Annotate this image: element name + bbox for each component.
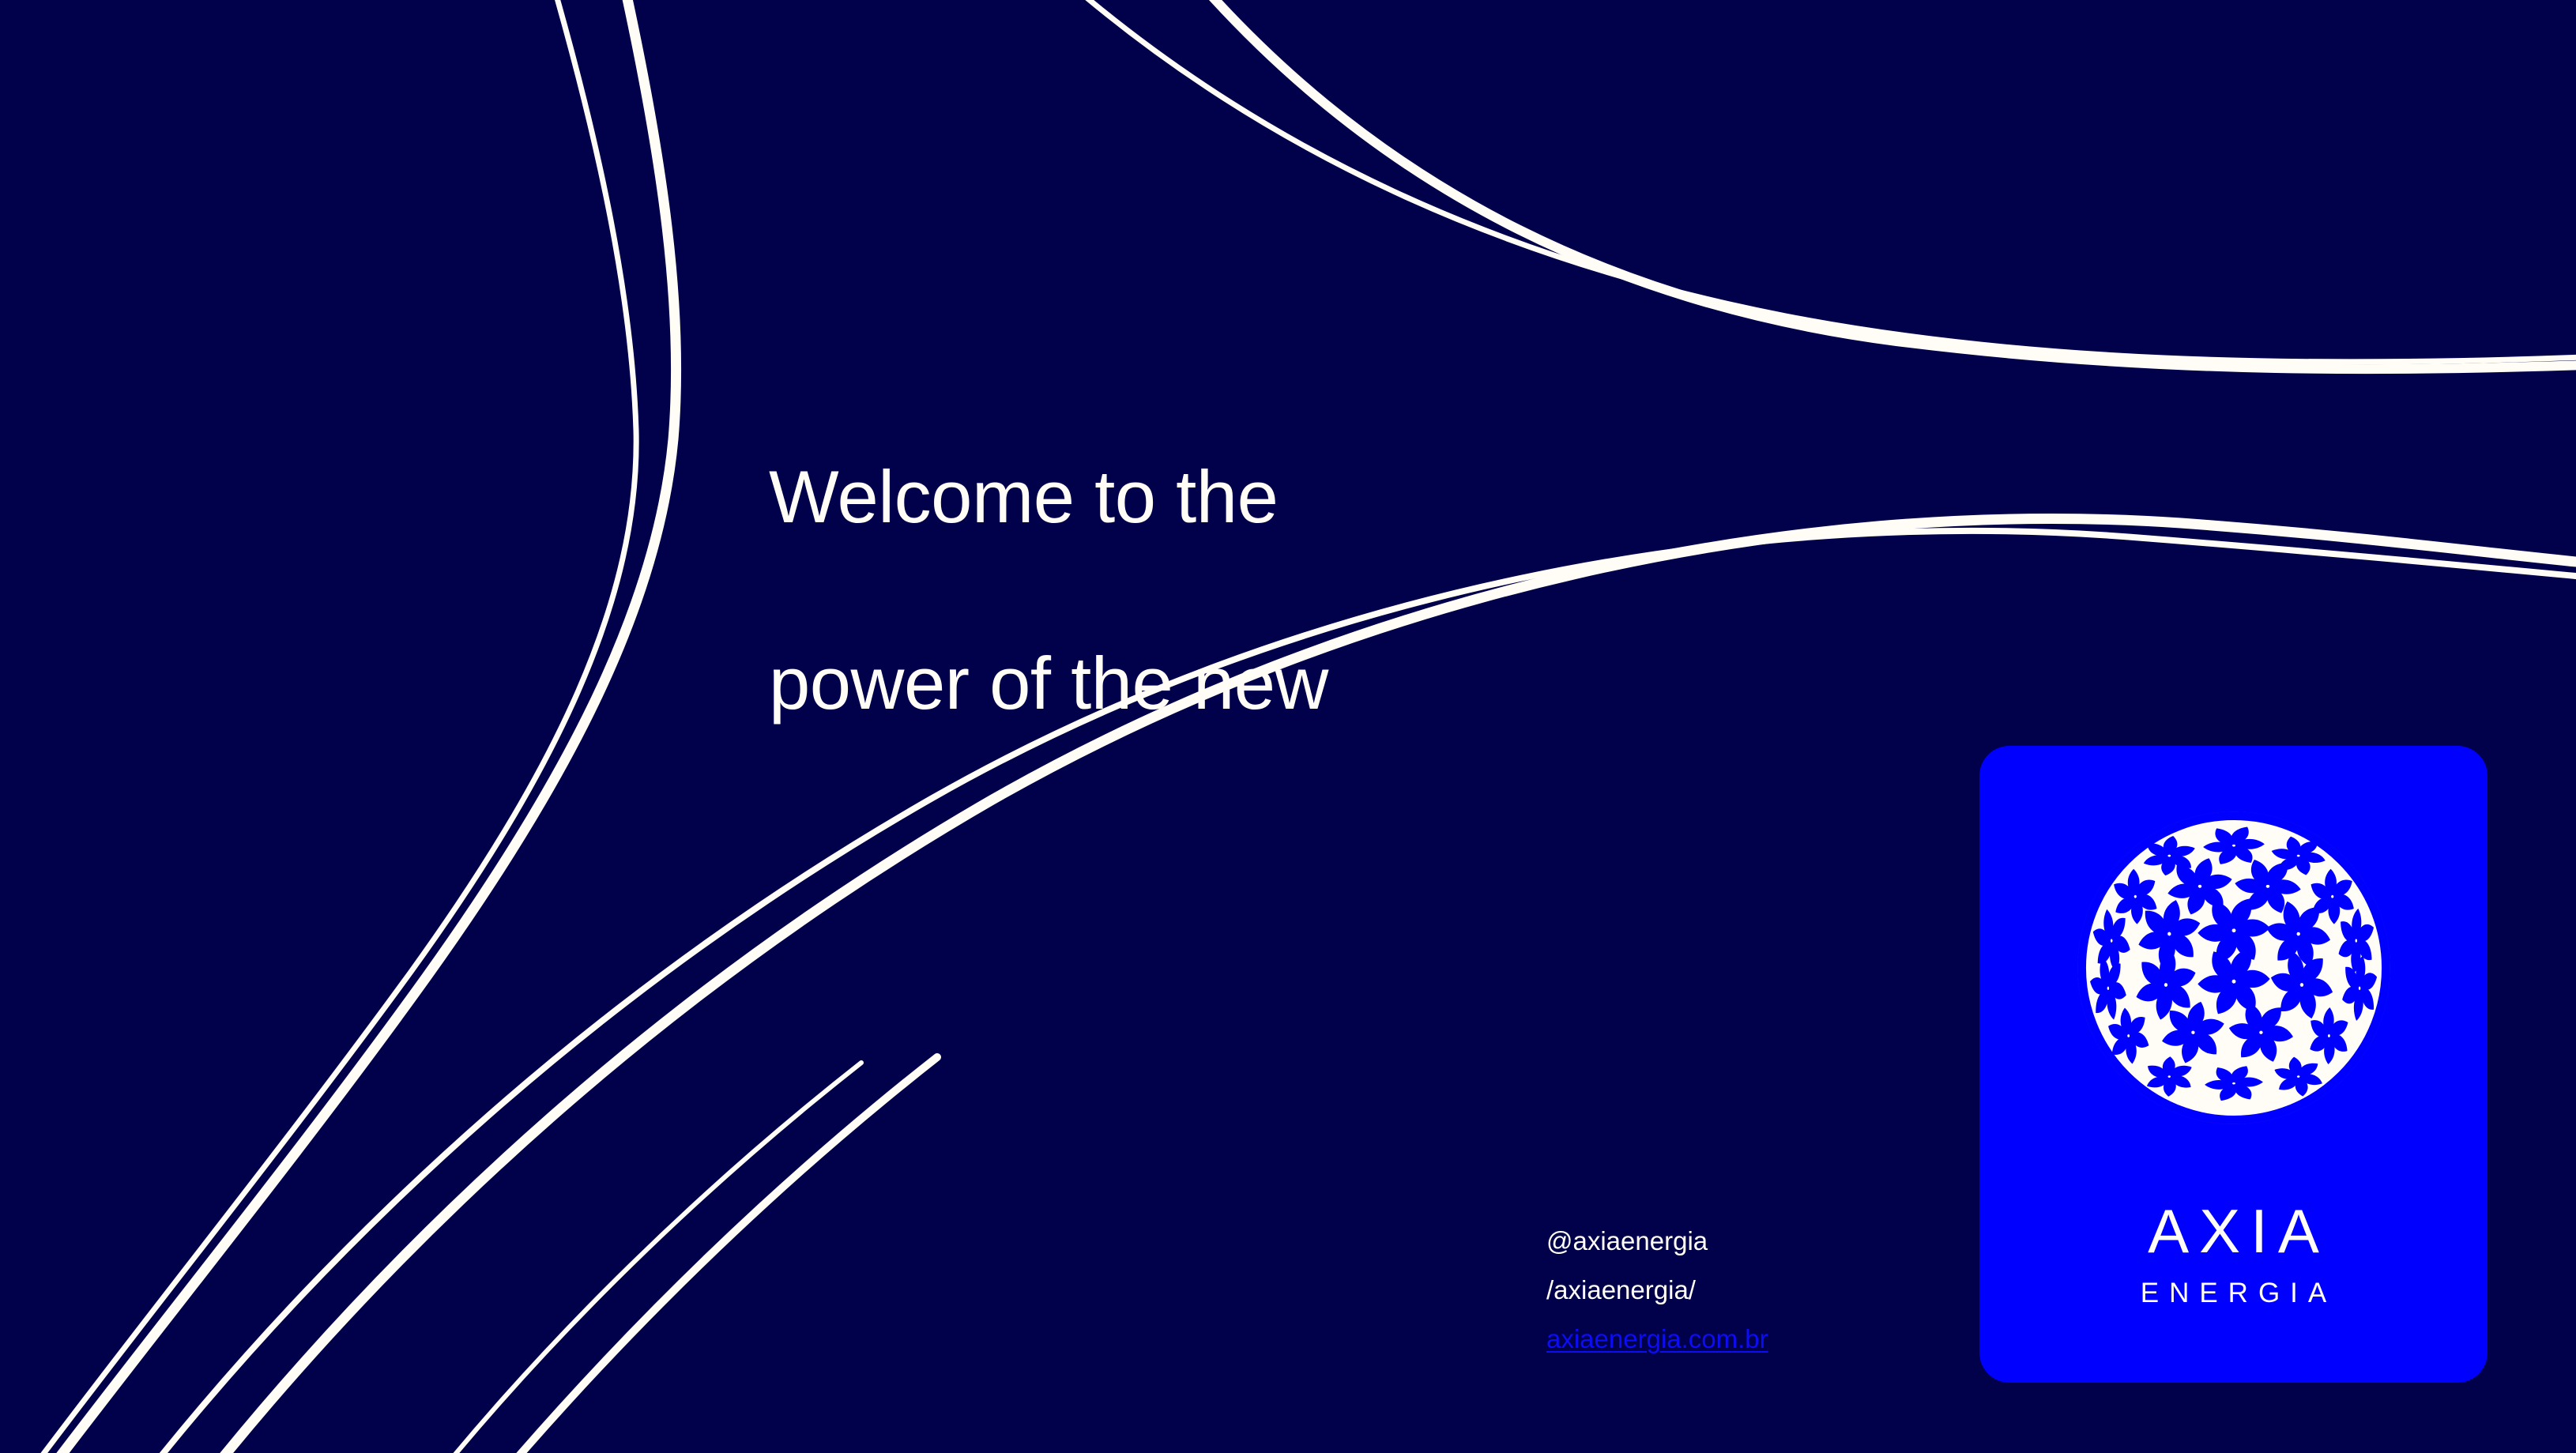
website-link[interactable]: axiaenergia.com.br	[1546, 1315, 1768, 1364]
brand-logo-card[interactable]: AXIA ENERGIA	[1979, 746, 2487, 1383]
contact-info: @axiaenergia /axiaenergia/ axiaenergia.c…	[1546, 1217, 1768, 1364]
brand-tagline: ENERGIA	[1979, 1278, 2487, 1309]
geodesic-sphere-icon	[2064, 798, 2404, 1138]
instagram-handle: @axiaenergia	[1546, 1217, 1768, 1266]
brand-wordmark: AXIA ENERGIA	[1979, 1198, 2487, 1309]
brand-name: AXIA	[1979, 1198, 2487, 1264]
ribbon-top-right-outer	[1071, 0, 2576, 362]
headline-line-2: power of the new	[769, 637, 1875, 730]
facebook-handle: /axiaenergia/	[1546, 1266, 1768, 1315]
headline-line-1: Welcome to the	[769, 450, 1875, 544]
ribbon-bottom-left-outer	[443, 1063, 861, 1453]
ribbon-left-outer	[32, 0, 636, 1453]
ribbon-left-inner	[49, 0, 676, 1453]
ribbon-bottom-left-inner	[506, 1057, 937, 1453]
ribbon-top-right-inner	[1201, 0, 2576, 369]
presentation-slide: Welcome to the power of the new @axiaene…	[0, 0, 2576, 1453]
page-title: Welcome to the power of the new	[769, 357, 1875, 823]
